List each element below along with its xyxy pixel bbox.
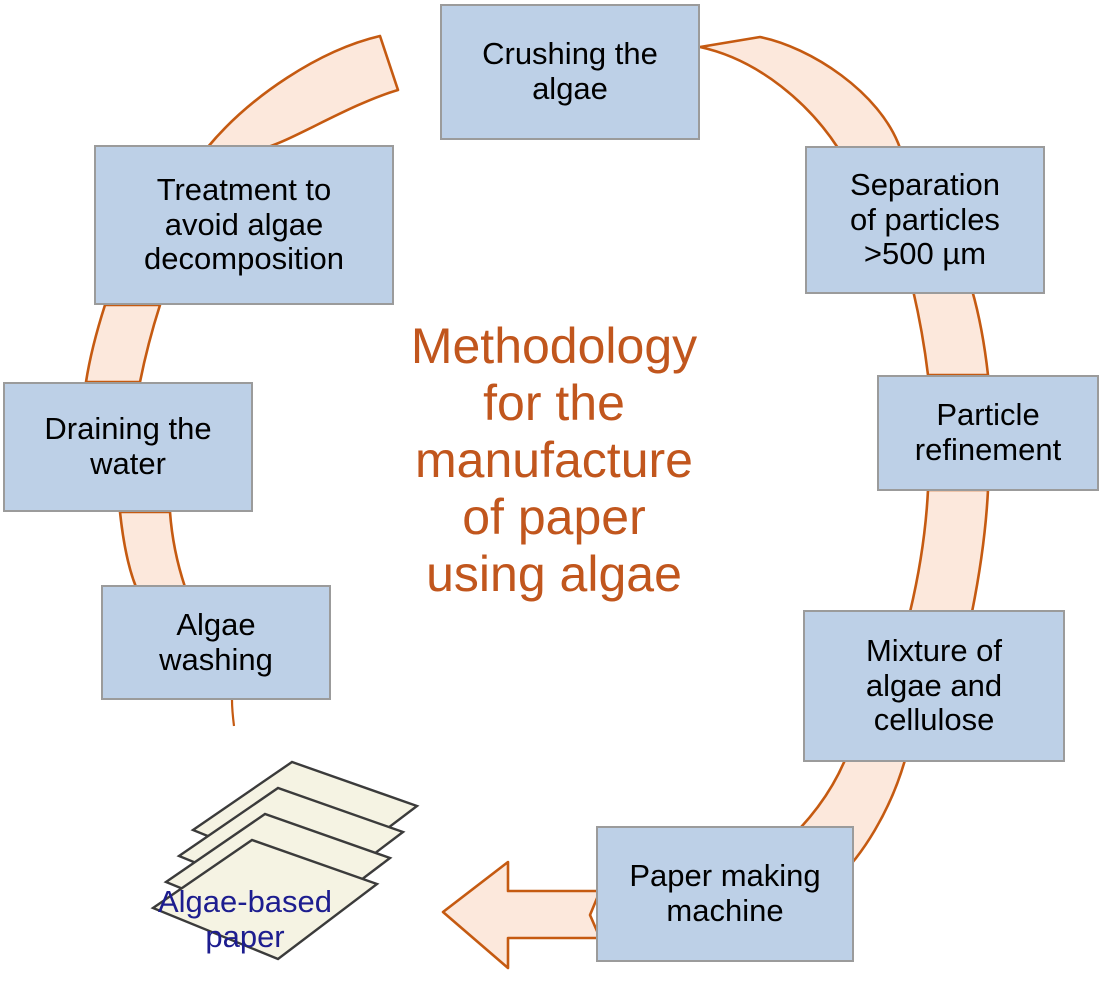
diagram-center-title: Methodology for the manufacture of paper…	[354, 318, 754, 603]
connector-treatment-to-draining	[86, 305, 160, 382]
step-box-mixture[interactable]: Mixture of algae and cellulose	[803, 610, 1065, 762]
step-label-separation: Separation of particles >500 µm	[850, 168, 1000, 272]
step-label-treatment: Treatment to avoid algae decomposition	[144, 173, 344, 277]
connector-separation-to-refinement	[913, 290, 988, 375]
step-box-washing[interactable]: Algae washing	[101, 585, 331, 700]
step-label-refinement: Particle refinement	[915, 398, 1061, 467]
output-arrow-icon	[443, 862, 600, 968]
diagram-canvas: Crushing the algae Separation of particl…	[0, 0, 1108, 986]
step-label-mixture: Mixture of algae and cellulose	[866, 634, 1002, 738]
connector-refinement-to-mixture	[910, 490, 988, 612]
step-box-treatment[interactable]: Treatment to avoid algae decomposition	[94, 145, 394, 305]
step-box-draining[interactable]: Draining the water	[3, 382, 253, 512]
step-label-crushing: Crushing the algae	[482, 37, 658, 106]
connector-draining-to-washing	[120, 512, 185, 587]
step-box-separation[interactable]: Separation of particles >500 µm	[805, 146, 1045, 294]
step-label-machine: Paper making machine	[629, 859, 820, 928]
step-box-machine[interactable]: Paper making machine	[596, 826, 854, 962]
output-label-algae-based-paper: Algae-based paper	[95, 885, 395, 954]
step-label-draining: Draining the water	[44, 412, 211, 481]
connector-treatment-to-crushing	[207, 36, 398, 148]
step-box-refinement[interactable]: Particle refinement	[877, 375, 1099, 491]
step-label-washing: Algae washing	[159, 608, 273, 677]
step-box-crushing[interactable]: Crushing the algae	[440, 4, 700, 140]
connector-crushing-to-separation	[700, 37, 900, 148]
connector-machine-to-washing	[232, 700, 234, 726]
